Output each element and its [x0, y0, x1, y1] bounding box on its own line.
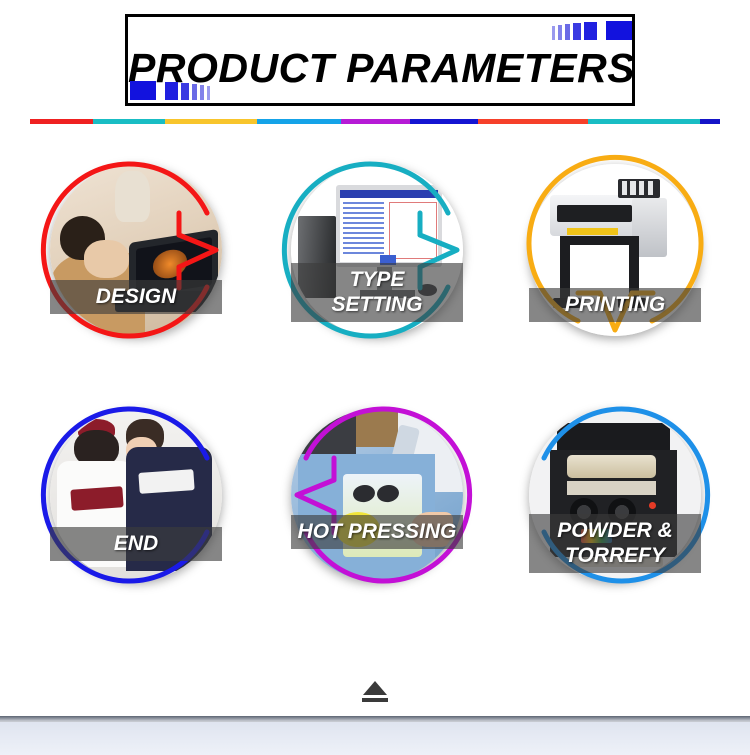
divider-segment [165, 119, 257, 124]
flow-step-design[interactable]: DESIGN [36, 150, 236, 350]
flow-step-powder-torrefy[interactable]: POWDER & TORREFY [515, 395, 715, 595]
divider-segment [93, 119, 165, 124]
eject-bar [362, 698, 388, 702]
flow-step-end[interactable]: END [36, 395, 236, 595]
divider-segment [588, 119, 700, 124]
product-parameters-page: PRODUCT PARAMETERS [0, 0, 750, 755]
printing-label: PRINTING [529, 288, 701, 322]
rainbow-divider [30, 119, 720, 124]
end-ring [36, 395, 236, 595]
design-ring-arrow [36, 150, 236, 350]
design-label: DESIGN [50, 280, 222, 314]
flow-step-typesetting[interactable]: TYPE SETTING [277, 150, 477, 350]
process-flow-diagram: DESIGN [0, 140, 750, 620]
eject-icon[interactable] [362, 681, 388, 703]
divider-segment [410, 119, 478, 124]
footer-bar [0, 722, 750, 755]
hot-pressing-ring-arrow [277, 395, 477, 595]
flow-step-hot-pressing[interactable]: HOT PRESSING [277, 395, 477, 595]
divider-segment [478, 119, 588, 124]
divider-segment [257, 119, 341, 124]
blue-gradient-bars-bottom-left [130, 80, 213, 100]
divider-segment [341, 119, 410, 124]
divider-segment [30, 119, 93, 124]
blue-gradient-bars-top-right [549, 20, 632, 40]
divider-segment [700, 119, 720, 124]
eject-triangle [363, 681, 387, 695]
end-label: END [50, 527, 222, 561]
flow-step-printing[interactable]: PRINTING [515, 150, 715, 350]
powder-torrefy-label: POWDER & TORREFY [529, 514, 701, 573]
hot-pressing-label: HOT PRESSING [291, 515, 463, 549]
typesetting-label: TYPE SETTING [291, 263, 463, 322]
header-banner: PRODUCT PARAMETERS [125, 14, 635, 106]
